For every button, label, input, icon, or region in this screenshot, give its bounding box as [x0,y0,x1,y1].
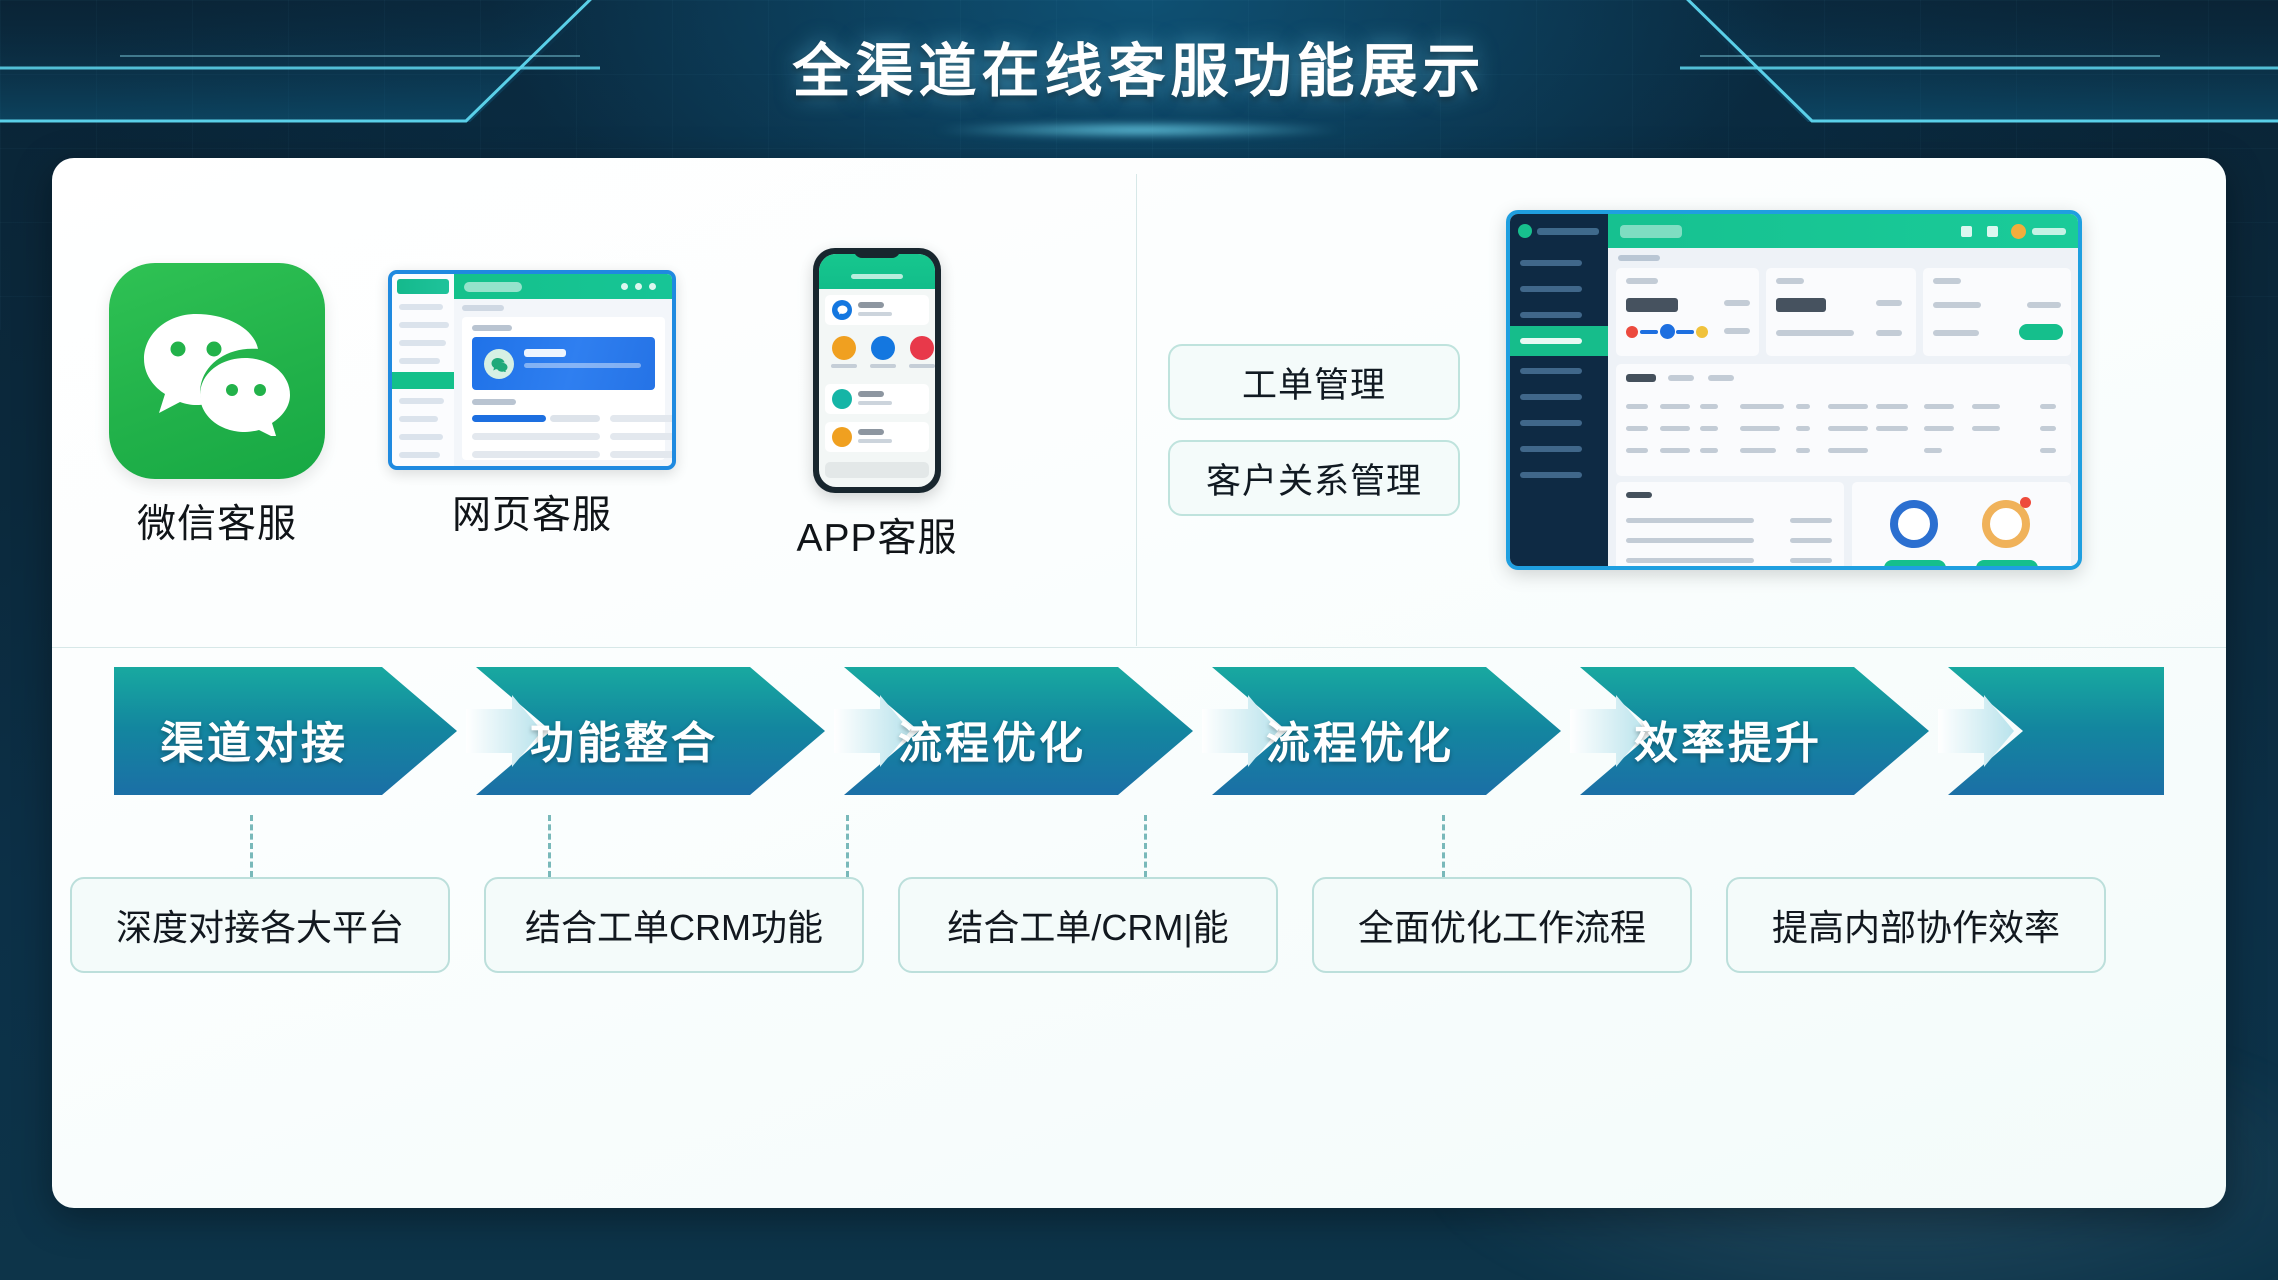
flow-connector-1 [250,815,253,877]
browser-hero-banner [472,337,655,390]
flow-step-title-3: 流程优化 [898,707,1086,771]
flow-connector-4 [1144,815,1147,877]
wechat-glyph [142,306,292,436]
dashboard-body [1608,248,2078,566]
page-title: 全渠道在线客服功能展示 [0,0,2278,132]
banner-glow [929,122,1349,138]
flow-step-caption-4[interactable]: 全面优化工作流程 [1312,877,1692,973]
process-flow-section: 渠道对接 功能整合 流程优化 流程优化 效率提升 深度对接各大平台 结合工单CR… [52,647,2226,1208]
flow-step-title-1: 渠道对接 [160,707,348,771]
browser-logo [397,279,449,294]
phone-grid-item-2 [866,336,900,368]
phone-grid-item-1 [827,336,861,368]
dashboard-stat-card [1923,268,2071,356]
flow-connector-2 [548,815,551,877]
channel-label-app: APP客服 [796,507,957,563]
flow-step-title-5: 效率提升 [1634,707,1822,771]
dashboard-table-card [1616,364,2071,476]
channel-item-web[interactable]: 网页客服 [382,270,682,540]
dashboard-stat-card [1766,268,1916,356]
flow-step-caption-3[interactable]: 结合工单/CRM|能 [898,877,1278,973]
channel-label-wechat: 微信客服 [137,493,297,549]
phone-grid-item-3 [905,336,935,368]
flow-connector-3 [846,815,849,877]
phone-screen [819,254,935,487]
admin-dashboard-mockup [1506,210,2082,570]
dashboard-topbar [1608,214,2078,248]
channel-label-web: 网页客服 [452,484,612,540]
channel-item-wechat[interactable]: 微信客服 [82,263,352,549]
flow-step-caption-1[interactable]: 深度对接各大平台 [70,877,450,973]
phone-notch [854,248,900,258]
wechat-icon [109,263,325,479]
feature-pill-ticket-management[interactable]: 工单管理 [1168,344,1460,420]
flow-step-title-2: 功能整合 [530,707,718,771]
flow-step-caption-2[interactable]: 结合工单CRM功能 [484,877,864,973]
browser-content [454,299,672,466]
dashboard-sidebar [1510,214,1608,566]
dashboard-brand [1518,224,1599,238]
dashboard-stat-card [1616,268,1759,356]
flow-connector-5 [1442,815,1445,877]
flow-step-caption-5[interactable]: 提高内部协作效率 [1726,877,2106,973]
chevron-graphics [52,647,2226,827]
dashboard-list-card [1616,482,1844,570]
feature-pill-crm[interactable]: 客户关系管理 [1168,440,1460,516]
dashboard-action-card [1852,482,2071,570]
title-banner: 全渠道在线客服功能展示 [0,0,2278,132]
mobile-phone-icon [813,248,941,493]
flow-step-title-4: 流程优化 [1266,707,1454,771]
channel-item-app[interactable]: APP客服 [742,248,1012,563]
channels-section: 微信客服 [52,158,1136,647]
features-section: 工单管理 客户关系管理 [1136,158,2226,647]
browser-sidebar [392,274,454,466]
browser-topbar [454,274,672,299]
browser-active-menu-item [392,372,454,389]
browser-window-icon [388,270,676,470]
chevron-row: 渠道对接 功能整合 流程优化 流程优化 效率提升 [52,647,2226,827]
main-content-card: 微信客服 [52,158,2226,1208]
